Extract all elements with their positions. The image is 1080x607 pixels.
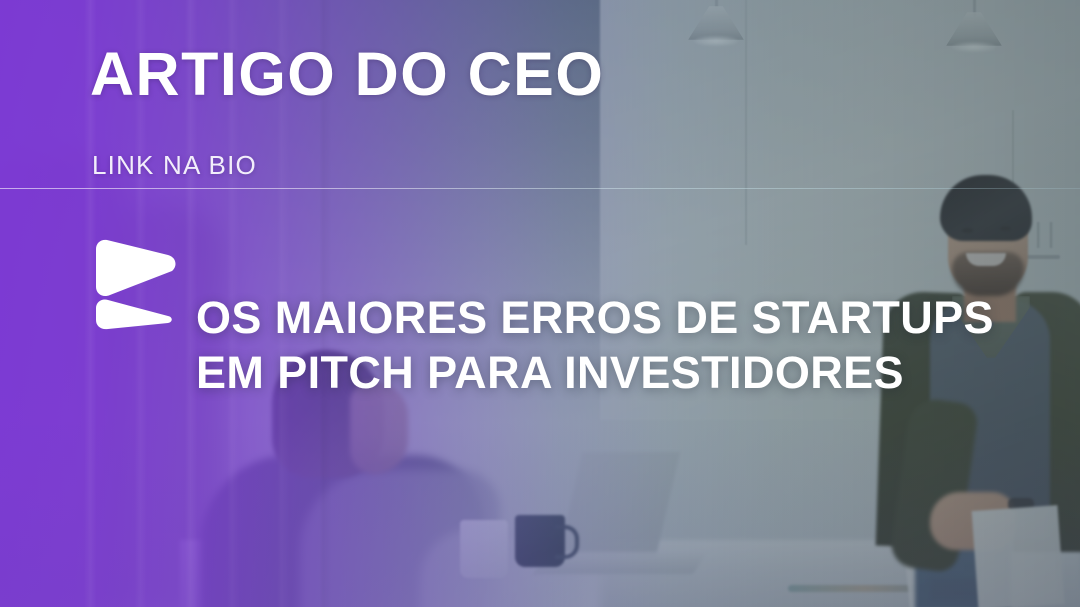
link-na-bio-label: LINK NA BIO: [92, 152, 257, 178]
content-layer: ARTIGO DO CEO LINK NA BIO OS MAIORES ERR…: [0, 0, 1080, 607]
headline: OS MAIORES ERROS DE STARTUPS EM PITCH PA…: [196, 236, 994, 456]
headline-line-1: OS MAIORES ERROS DE STARTUPS: [196, 292, 994, 343]
divider: [0, 188, 1080, 189]
headline-line-2: EM PITCH PARA INVESTIDORES: [196, 346, 994, 401]
page-title: ARTIGO DO CEO: [90, 44, 604, 105]
double-chevron-right-logo-icon: [88, 236, 180, 332]
promo-card: ARTIGO DO CEO LINK NA BIO OS MAIORES ERR…: [0, 0, 1080, 607]
